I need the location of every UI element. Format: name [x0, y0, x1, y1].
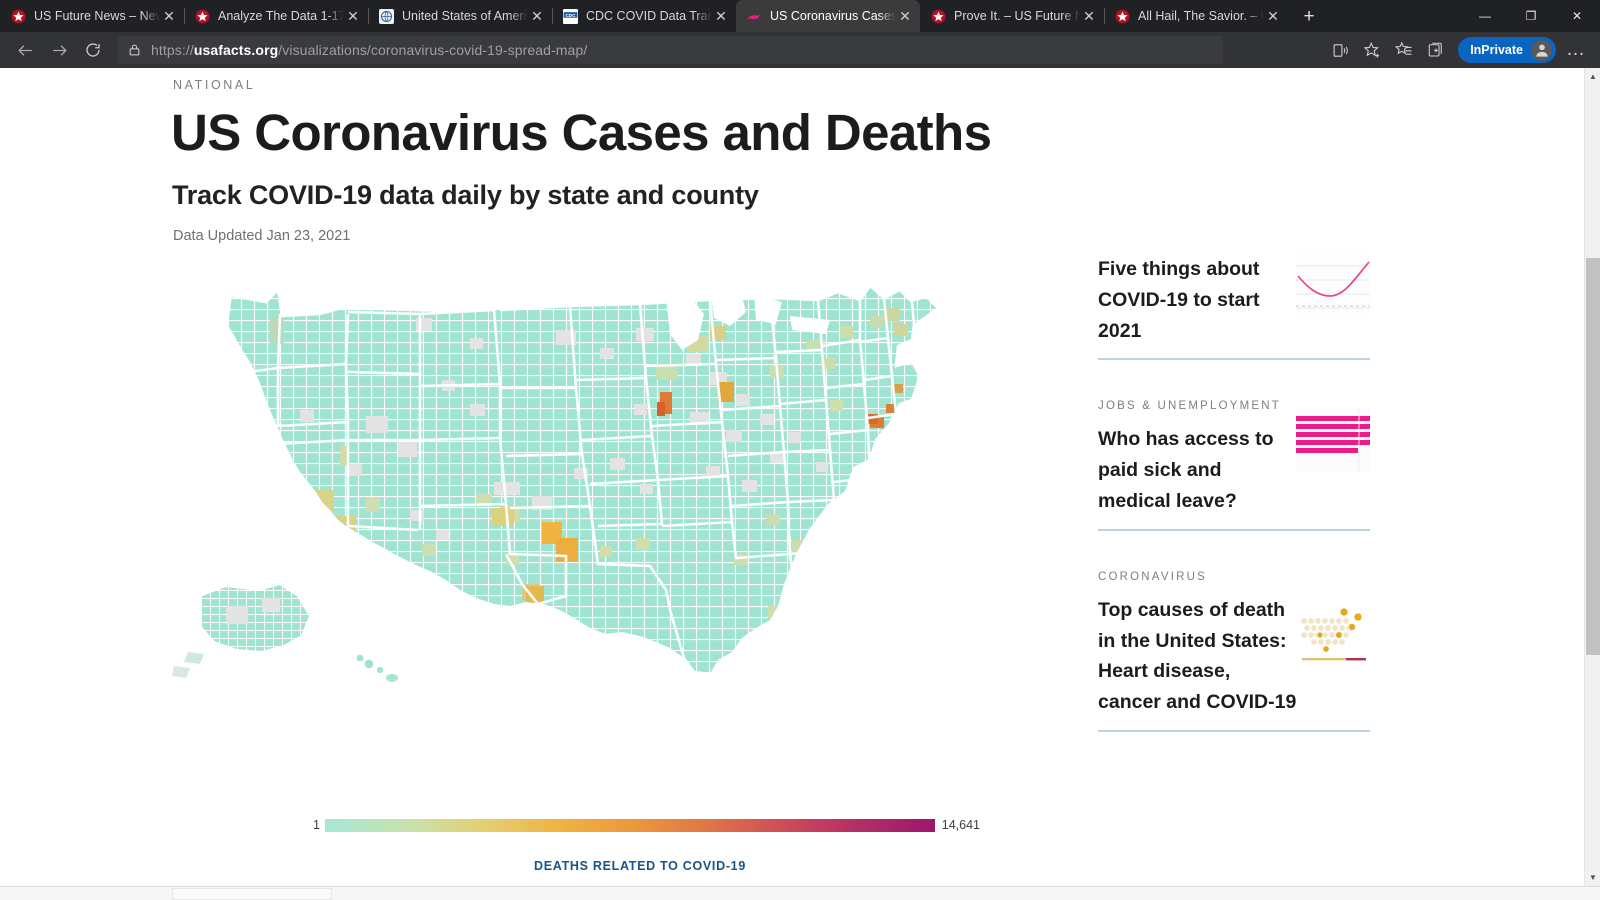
forward-arrow-icon[interactable]	[42, 35, 76, 65]
tab-close-button[interactable]: ✕	[1264, 7, 1282, 25]
globe-seal-icon	[378, 8, 394, 24]
scroll-down-arrow-icon[interactable]: ▼	[1585, 869, 1600, 886]
article-title[interactable]: Top causes of death in the United States…	[1098, 595, 1298, 718]
legend-title: DEATHS RELATED TO COVID-19	[300, 859, 980, 873]
close-window-button[interactable]: ✕	[1554, 0, 1600, 32]
card-divider	[1098, 529, 1370, 531]
legend-max-value: 14,641	[942, 818, 980, 832]
hawaii-counties	[357, 655, 398, 682]
browser-window: US Future News – News T ✕ Analyze The Da…	[0, 0, 1600, 900]
add-favorite-icon[interactable]	[1356, 35, 1388, 65]
horizontal-scrollbar-thumb[interactable]	[172, 888, 332, 900]
settings-more-button[interactable]: …	[1560, 35, 1592, 65]
line-chart-thumbnail	[1296, 254, 1370, 318]
browser-tab-3[interactable]: United States of America ✕	[368, 0, 552, 32]
lock-icon	[128, 43, 141, 57]
map-svg[interactable]	[170, 254, 1030, 724]
red-star-icon	[194, 8, 210, 24]
legend-scale-row: 1 14,641	[300, 818, 980, 832]
read-aloud-icon[interactable]	[1324, 35, 1356, 65]
collections-icon[interactable]	[1420, 35, 1452, 65]
article-title[interactable]: Who has access to paid sick and medical …	[1098, 424, 1298, 516]
data-updated-text: Data Updated Jan 23, 2021	[173, 228, 350, 244]
inprivate-label: InPrivate	[1470, 43, 1523, 57]
article-title[interactable]: Five things about COVID-19 to start 2021	[1098, 254, 1298, 346]
legend-color-bar	[325, 819, 935, 832]
browser-tab-6[interactable]: Prove It. – US Future New ✕	[920, 0, 1104, 32]
tab-strip: US Future News – News T ✕ Analyze The Da…	[0, 0, 1600, 32]
hex-map-thumbnail	[1296, 605, 1370, 669]
horizontal-scrollbar[interactable]	[0, 886, 1600, 900]
tab-close-button[interactable]: ✕	[160, 7, 178, 25]
browser-tab-4[interactable]: CDC CDC COVID Data Tracker ✕	[552, 0, 736, 32]
us-county-choropleth-map[interactable]	[170, 254, 1030, 724]
reload-icon[interactable]	[76, 35, 110, 65]
page-viewport: NATIONAL US Coronavirus Cases and Deaths…	[0, 68, 1600, 886]
toolbar-right-group: InPrivate …	[1324, 35, 1592, 65]
article-card-1[interactable]: Five things about COVID-19 to start 2021	[1098, 254, 1370, 370]
tab-close-button[interactable]: ✕	[712, 7, 730, 25]
tab-close-button[interactable]: ✕	[344, 7, 362, 25]
tab-close-button[interactable]: ✕	[896, 7, 914, 25]
tab-title: CDC COVID Data Tracker	[586, 9, 712, 23]
svg-text:CDC: CDC	[565, 12, 576, 17]
red-star-icon	[10, 8, 26, 24]
minimize-button[interactable]: —	[1462, 0, 1508, 32]
tab-title: US Future News – News T	[34, 9, 160, 23]
tab-title: US Coronavirus Cases and	[770, 9, 896, 23]
vertical-scrollbar-thumb[interactable]	[1586, 258, 1600, 655]
browser-tab-5-active[interactable]: US Coronavirus Cases and ✕	[736, 0, 920, 32]
tab-title: United States of America	[402, 9, 528, 23]
maximize-button[interactable]: ❐	[1508, 0, 1554, 32]
browser-toolbar: https://usafacts.org/visualizations/coro…	[0, 32, 1600, 68]
legend-min-value: 1	[300, 818, 320, 832]
page-subtitle: Track COVID-19 data daily by state and c…	[172, 180, 759, 211]
card-divider	[1098, 358, 1370, 360]
card-divider	[1098, 730, 1370, 732]
vertical-scrollbar[interactable]: ▲ ▼	[1584, 68, 1600, 886]
article-kicker: CORONAVIRUS	[1098, 571, 1370, 583]
new-tab-button[interactable]: +	[1294, 2, 1324, 30]
address-bar[interactable]: https://usafacts.org/visualizations/coro…	[118, 36, 1223, 64]
tab-close-button[interactable]: ✕	[1080, 7, 1098, 25]
browser-tab-2[interactable]: Analyze The Data 1-17-21 ✕	[184, 0, 368, 32]
alaska-counties	[172, 584, 310, 678]
tab-close-button[interactable]: ✕	[528, 7, 546, 25]
page-title: US Coronavirus Cases and Deaths	[171, 107, 991, 158]
article-card-2[interactable]: JOBS & UNEMPLOYMENT Who has access to pa…	[1098, 400, 1370, 540]
article-card-3[interactable]: CORONAVIRUS Top causes of death in the U…	[1098, 571, 1370, 742]
map-legend: 1 14,641 DEATHS RELATED TO COVID-19	[300, 818, 980, 878]
lower-48-counties	[170, 254, 1030, 724]
inprivate-profile-button[interactable]: InPrivate	[1458, 37, 1556, 63]
tab-title: All Hail, The Savior. – US F	[1138, 9, 1264, 23]
person-avatar-icon	[1531, 40, 1552, 61]
url-path: /visualizations/coronavirus-covid-19-spr…	[278, 42, 587, 58]
related-articles-sidebar: Five things about COVID-19 to start 2021…	[1098, 254, 1370, 742]
red-star-icon	[930, 8, 946, 24]
back-arrow-icon[interactable]	[8, 35, 42, 65]
browser-tab-1[interactable]: US Future News – News T ✕	[0, 0, 184, 32]
tab-title: Prove It. – US Future New	[954, 9, 1080, 23]
url-domain: usafacts.org	[194, 42, 278, 58]
tab-title: Analyze The Data 1-17-21	[218, 9, 344, 23]
favorites-icon[interactable]	[1388, 35, 1420, 65]
pink-bar-chart-thumbnail	[1296, 408, 1370, 472]
cdc-icon: CDC	[562, 8, 578, 24]
red-star-icon	[1114, 8, 1130, 24]
window-controls: — ❐ ✕	[1462, 0, 1600, 32]
page-document: NATIONAL US Coronavirus Cases and Deaths…	[0, 68, 1556, 886]
url-scheme: https://	[151, 42, 194, 58]
pink-virus-icon	[746, 8, 762, 24]
url-text: https://usafacts.org/visualizations/coro…	[151, 42, 587, 58]
browser-tab-7[interactable]: All Hail, The Savior. – US F ✕	[1104, 0, 1288, 32]
scroll-up-arrow-icon[interactable]: ▲	[1585, 68, 1600, 85]
page-eyebrow: NATIONAL	[173, 78, 255, 92]
